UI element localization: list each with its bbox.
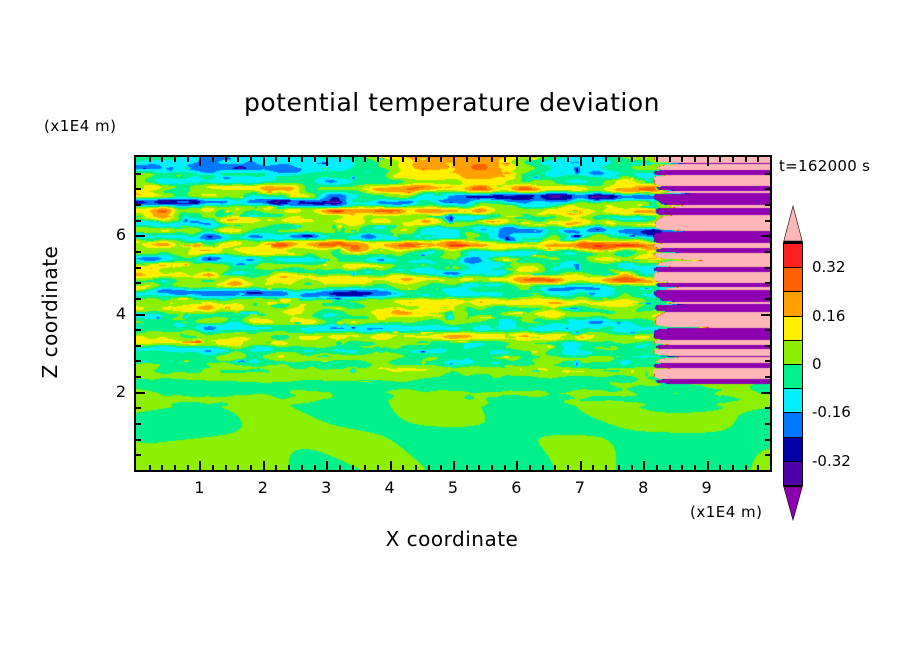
x-major-tick-bottom: [453, 461, 455, 470]
y-minor-tick-left: [136, 423, 141, 425]
x-minor-tick-bottom: [631, 465, 633, 470]
x-minor-tick-top: [237, 157, 239, 162]
x-minor-tick-top: [491, 157, 493, 162]
colorbar-band: [783, 267, 803, 293]
y-minor-tick-right: [765, 454, 770, 456]
x-tick-label: 2: [243, 478, 283, 497]
x-minor-tick-bottom: [275, 465, 277, 470]
x-minor-tick-top: [656, 157, 658, 162]
x-axis-title: X coordinate: [0, 527, 904, 551]
y-minor-tick-left: [136, 220, 141, 222]
colorbar-band: [783, 291, 803, 317]
x-tick-label: 5: [433, 478, 473, 497]
x-minor-tick-top: [605, 157, 607, 162]
x-axis-unit-label: (x1E4 m): [690, 503, 763, 521]
x-tick-label: 3: [306, 478, 346, 497]
x-tick-label: 7: [560, 478, 600, 497]
x-minor-tick-top: [719, 157, 721, 162]
x-minor-tick-top: [567, 157, 569, 162]
x-minor-tick-top: [669, 157, 671, 162]
contour-plot-area: [134, 155, 772, 472]
y-major-tick-left: [136, 392, 145, 394]
x-minor-tick-top: [288, 157, 290, 162]
y-tick-label: 2: [96, 382, 126, 401]
x-major-tick-bottom: [390, 461, 392, 470]
colorbar-tick-label: -0.16: [812, 403, 851, 421]
x-minor-tick-top: [478, 157, 480, 162]
x-major-tick-top: [390, 157, 392, 166]
x-minor-tick-bottom: [352, 465, 354, 470]
x-minor-tick-top: [187, 157, 189, 162]
x-major-tick-bottom: [580, 461, 582, 470]
y-major-tick-right: [761, 314, 770, 316]
x-minor-tick-bottom: [225, 465, 227, 470]
y-tick-label: 4: [96, 304, 126, 323]
y-axis-title: Z coordinate: [38, 212, 62, 412]
y-minor-tick-left: [136, 298, 141, 300]
x-minor-tick-bottom: [301, 465, 303, 470]
x-minor-tick-top: [149, 157, 151, 162]
x-minor-tick-bottom: [669, 465, 671, 470]
x-minor-tick-top: [529, 157, 531, 162]
x-minor-tick-bottom: [504, 465, 506, 470]
x-major-tick-bottom: [199, 461, 201, 470]
x-minor-tick-bottom: [592, 465, 594, 470]
x-minor-tick-top: [554, 157, 556, 162]
figure-root: potential temperature deviation (x1E4 m)…: [0, 0, 904, 654]
y-minor-tick-left: [136, 329, 141, 331]
x-minor-tick-top: [542, 157, 544, 162]
x-minor-tick-bottom: [339, 465, 341, 470]
x-minor-tick-bottom: [567, 465, 569, 470]
x-minor-tick-top: [314, 157, 316, 162]
x-minor-tick-bottom: [237, 465, 239, 470]
x-minor-tick-top: [225, 157, 227, 162]
x-minor-tick-bottom: [605, 465, 607, 470]
x-minor-tick-top: [618, 157, 620, 162]
colorbar-band: [783, 437, 803, 463]
contour-field-canvas: [136, 157, 770, 470]
x-minor-tick-bottom: [288, 465, 290, 470]
x-minor-tick-top: [592, 157, 594, 162]
x-minor-tick-bottom: [440, 465, 442, 470]
x-major-tick-top: [707, 157, 709, 166]
colorbar-tick-label: 0: [812, 355, 822, 373]
y-minor-tick-left: [136, 251, 141, 253]
colorbar-band: [783, 412, 803, 438]
x-minor-tick-bottom: [491, 465, 493, 470]
x-minor-tick-bottom: [656, 465, 658, 470]
y-minor-tick-left: [136, 267, 141, 269]
x-minor-tick-bottom: [466, 465, 468, 470]
x-minor-tick-bottom: [402, 465, 404, 470]
y-minor-tick-right: [765, 376, 770, 378]
x-tick-label: 1: [179, 478, 219, 497]
x-minor-tick-bottom: [757, 465, 759, 470]
timestamp-label: t=162000 s: [779, 157, 870, 175]
y-major-tick-left: [136, 314, 145, 316]
y-minor-tick-right: [765, 204, 770, 206]
x-minor-tick-top: [428, 157, 430, 162]
colorbar-under-arrow: [783, 485, 803, 521]
y-major-tick-left: [136, 235, 145, 237]
x-major-tick-top: [643, 157, 645, 166]
x-minor-tick-bottom: [428, 465, 430, 470]
x-minor-tick-top: [745, 157, 747, 162]
x-minor-tick-bottom: [732, 465, 734, 470]
x-minor-tick-bottom: [478, 465, 480, 470]
colorbar-band: [783, 388, 803, 414]
x-minor-tick-bottom: [618, 465, 620, 470]
x-tick-label: 6: [496, 478, 536, 497]
x-minor-tick-top: [161, 157, 163, 162]
x-minor-tick-top: [631, 157, 633, 162]
colorbar-band: [783, 340, 803, 366]
x-minor-tick-bottom: [681, 465, 683, 470]
x-major-tick-top: [580, 157, 582, 166]
colorbar-band: [783, 364, 803, 390]
x-minor-tick-top: [275, 157, 277, 162]
x-minor-tick-bottom: [554, 465, 556, 470]
y-minor-tick-right: [765, 188, 770, 190]
x-minor-tick-top: [339, 157, 341, 162]
x-minor-tick-top: [504, 157, 506, 162]
x-tick-label: 9: [687, 478, 727, 497]
y-axis-unit-label: (x1E4 m): [44, 117, 117, 135]
y-major-tick-right: [761, 235, 770, 237]
y-minor-tick-left: [136, 282, 141, 284]
x-major-tick-bottom: [707, 461, 709, 470]
y-minor-tick-left: [136, 188, 141, 190]
y-minor-tick-left: [136, 360, 141, 362]
colorbar-tick-label: 0.16: [812, 307, 845, 325]
y-minor-tick-right: [765, 439, 770, 441]
x-minor-tick-top: [440, 157, 442, 162]
x-minor-tick-top: [364, 157, 366, 162]
y-tick-label: 6: [96, 225, 126, 244]
colorbar-over-arrow: [783, 205, 803, 243]
colorbar-band: [783, 316, 803, 342]
x-major-tick-bottom: [643, 461, 645, 470]
x-tick-label: 8: [623, 478, 663, 497]
x-major-tick-top: [516, 157, 518, 166]
x-major-tick-top: [453, 157, 455, 166]
x-minor-tick-top: [757, 157, 759, 162]
x-minor-tick-bottom: [719, 465, 721, 470]
x-minor-tick-bottom: [377, 465, 379, 470]
x-minor-tick-bottom: [529, 465, 531, 470]
y-minor-tick-right: [765, 407, 770, 409]
colorbar: [781, 205, 805, 515]
y-minor-tick-right: [765, 298, 770, 300]
x-minor-tick-bottom: [149, 465, 151, 470]
x-minor-tick-top: [174, 157, 176, 162]
x-minor-tick-top: [732, 157, 734, 162]
x-minor-tick-bottom: [542, 465, 544, 470]
x-minor-tick-bottom: [161, 465, 163, 470]
x-minor-tick-bottom: [745, 465, 747, 470]
x-minor-tick-top: [301, 157, 303, 162]
y-minor-tick-right: [765, 345, 770, 347]
y-minor-tick-left: [136, 345, 141, 347]
x-major-tick-bottom: [516, 461, 518, 470]
x-minor-tick-bottom: [187, 465, 189, 470]
x-major-tick-top: [199, 157, 201, 166]
x-tick-label: 4: [370, 478, 410, 497]
colorbar-band: [783, 461, 803, 487]
x-minor-tick-bottom: [694, 465, 696, 470]
y-minor-tick-left: [136, 376, 141, 378]
y-minor-tick-right: [765, 360, 770, 362]
y-minor-tick-right: [765, 173, 770, 175]
x-minor-tick-top: [212, 157, 214, 162]
y-minor-tick-right: [765, 251, 770, 253]
colorbar-tick-label: 0.32: [812, 258, 845, 276]
y-minor-tick-left: [136, 407, 141, 409]
x-minor-tick-top: [415, 157, 417, 162]
colorbar-tick-label: -0.32: [812, 452, 851, 470]
y-minor-tick-right: [765, 267, 770, 269]
x-minor-tick-top: [250, 157, 252, 162]
x-minor-tick-bottom: [364, 465, 366, 470]
x-minor-tick-bottom: [212, 465, 214, 470]
x-major-tick-top: [263, 157, 265, 166]
y-major-tick-right: [761, 392, 770, 394]
y-minor-tick-right: [765, 282, 770, 284]
x-minor-tick-bottom: [314, 465, 316, 470]
x-minor-tick-bottom: [250, 465, 252, 470]
y-minor-tick-left: [136, 454, 141, 456]
x-minor-tick-top: [377, 157, 379, 162]
y-minor-tick-right: [765, 329, 770, 331]
y-minor-tick-right: [765, 220, 770, 222]
colorbar-band: [783, 243, 803, 269]
x-major-tick-bottom: [263, 461, 265, 470]
x-minor-tick-top: [466, 157, 468, 162]
x-minor-tick-top: [352, 157, 354, 162]
y-minor-tick-left: [136, 204, 141, 206]
x-minor-tick-bottom: [174, 465, 176, 470]
x-major-tick-bottom: [326, 461, 328, 470]
y-minor-tick-left: [136, 439, 141, 441]
y-minor-tick-left: [136, 173, 141, 175]
x-minor-tick-top: [694, 157, 696, 162]
x-major-tick-top: [326, 157, 328, 166]
page-title: potential temperature deviation: [0, 88, 904, 117]
x-minor-tick-top: [681, 157, 683, 162]
x-minor-tick-top: [402, 157, 404, 162]
y-minor-tick-right: [765, 423, 770, 425]
x-minor-tick-bottom: [415, 465, 417, 470]
